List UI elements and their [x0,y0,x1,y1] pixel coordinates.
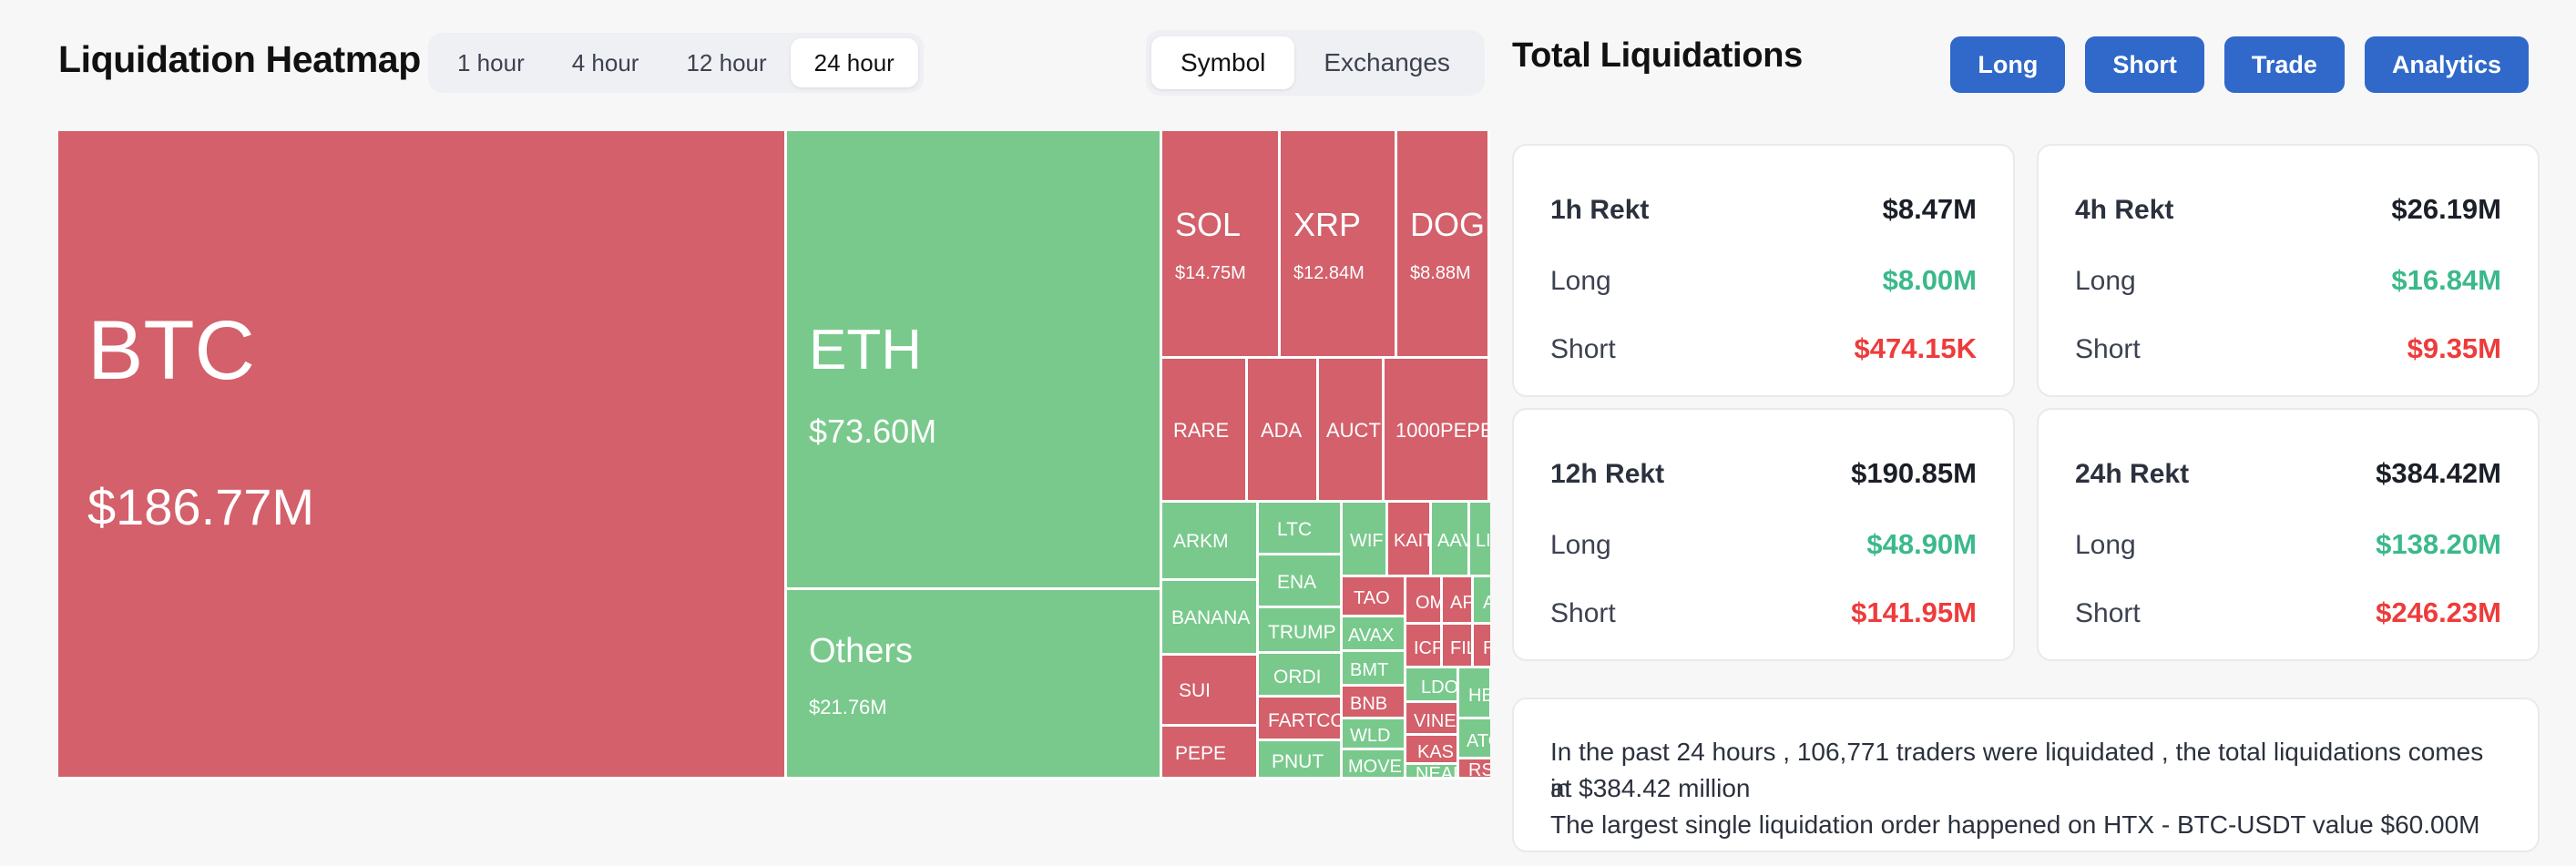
rekt-total-value: $190.85M [1851,457,1977,490]
action-button-short[interactable]: Short [2085,36,2204,93]
treemap-tile-symbol: BANANA [1171,608,1250,627]
long-label: Long [2075,266,2136,297]
treemap-tile[interactable]: BTC$186.77M [58,131,787,779]
rekt-period-label: 4h Rekt [2075,195,2173,226]
treemap-tile-symbol: ICP [1414,639,1443,657]
treemap-tile-symbol: AVAX [1348,627,1394,645]
treemap-tile[interactable]: WLD [1343,719,1406,750]
short-value: $246.23M [2376,596,2501,629]
treemap-tile-value: $8.88M [1410,264,1471,282]
treemap-tile[interactable]: AAVE [1432,503,1470,577]
long-value: $8.00M [1883,264,1977,297]
rekt-total-value: $384.42M [2376,457,2501,490]
treemap-tile[interactable]: Others$21.76M [787,590,1162,779]
short-label: Short [2075,598,2141,629]
total-liquidations-title: Total Liquidations [1512,36,1803,76]
action-buttons[interactable]: LongShortTradeAnalytics [1950,36,2529,93]
treemap-tile[interactable]: ETH$73.60M [787,131,1162,590]
timeframe-tab-1-hour[interactable]: 1 hour [434,38,548,87]
treemap-tile[interactable]: ADA [1248,359,1319,503]
liquidation-treemap[interactable]: BTC$186.77METH$73.60MOthers$21.76MSOL$14… [58,131,1490,779]
treemap-tile[interactable]: NEAR [1406,765,1459,779]
treemap-tile[interactable]: ATOM [1459,719,1490,759]
treemap-tile-value: $73.60M [809,415,936,448]
treemap-tile-symbol: SUI [1179,681,1211,700]
rekt-card-row: Long$8.00M [1550,264,1977,297]
action-button-analytics[interactable]: Analytics [2365,36,2529,93]
short-value: $9.35M [2407,332,2501,365]
action-button-long[interactable]: Long [1950,36,2065,93]
treemap-tile-value: $21.76M [809,698,887,718]
short-label: Short [1550,334,1616,365]
rekt-card-24h: 24h Rekt$384.42MLong$138.20MShort$246.23… [2037,408,2540,661]
treemap-tile[interactable]: RARE [1162,359,1248,503]
treemap-tile[interactable]: WIF [1343,503,1388,577]
treemap-tile-symbol: ARKM [1173,532,1229,551]
treemap-tile[interactable]: BNB [1343,687,1406,719]
treemap-tile-symbol: 1000PEPE [1395,421,1490,441]
treemap-tile[interactable]: FARTCOIN [1259,698,1343,741]
treemap-tile-value: $12.84M [1293,264,1365,282]
treemap-tile[interactable]: SUI [1162,656,1259,727]
treemap-tile-symbol: WLD [1350,727,1390,745]
treemap-tile[interactable]: BMT [1343,652,1406,687]
page-title: Liquidation Heatmap [58,38,421,81]
treemap-tile-symbol: NEAR [1416,765,1459,779]
treemap-tile[interactable]: FIL [1443,625,1474,668]
rekt-card-row: 1h Rekt$8.47M [1550,193,1977,226]
action-button-trade[interactable]: Trade [2224,36,2345,93]
treemap-tile-symbol: ETH [809,322,922,379]
treemap-tile-symbol: FARTCOIN [1268,711,1343,730]
timeframe-tab-4-hour[interactable]: 4 hour [548,38,663,87]
treemap-tile[interactable]: ARKM [1162,503,1259,581]
treemap-tile-symbol: HBAR [1468,687,1490,705]
treemap-tile-symbol: TAO [1354,589,1390,607]
rekt-card-4h: 4h Rekt$26.19MLong$16.84MShort$9.35M [2037,144,2540,397]
rekt-card-row: 24h Rekt$384.42M [2075,457,2501,490]
treemap-tile-symbol: ENA [1277,573,1316,592]
rekt-card-row: 4h Rekt$26.19M [2075,193,2501,226]
short-value: $141.95M [1851,596,1977,629]
treemap-tile-value: $186.77M [87,482,314,533]
timeframe-tab-24-hour[interactable]: 24 hour [791,38,918,87]
treemap-tile[interactable]: BANANA [1162,581,1259,656]
treemap-tile[interactable]: LDO [1406,668,1459,703]
treemap-tile-symbol: AUCTION [1326,421,1385,441]
long-label: Long [1550,530,1611,561]
summary-card: In the past 24 hours , 106,771 traders w… [1512,698,2540,852]
treemap-tile-symbol: Others [809,634,913,668]
treemap-tile[interactable]: LTC [1259,503,1343,555]
timeframe-tab-12-hour[interactable]: 12 hour [662,38,790,87]
treemap-tile-symbol: XRP [1293,209,1361,241]
treemap-tile-symbol: LINK [1476,532,1490,550]
long-label: Long [1550,266,1611,297]
treemap-tile[interactable]: PEPE [1162,727,1259,779]
treemap-tile-symbol: ADA [1483,594,1490,612]
treemap-tile-symbol: RARE [1173,421,1229,441]
treemap-tile[interactable]: RSR [1459,759,1490,779]
treemap-tile-symbol: ORDI [1273,667,1322,687]
treemap-tile[interactable]: TRUMP [1259,608,1343,654]
treemap-tile[interactable]: AVAX [1343,617,1406,652]
treemap-tile-symbol: APT [1450,594,1474,612]
treemap-tile-symbol: ATOM [1467,732,1490,750]
summary-line-3: The largest single liquidation order hap… [1550,807,2501,843]
treemap-tile-symbol: SOL [1175,209,1241,241]
rekt-period-label: 12h Rekt [1550,459,1664,490]
rekt-card-row: 12h Rekt$190.85M [1550,457,1977,490]
treemap-tile-symbol: OM [1416,594,1443,612]
treemap-tile[interactable]: XRP$12.84M [1281,131,1397,359]
rekt-card-12h: 12h Rekt$190.85MLong$48.90MShort$141.95M [1512,408,2015,661]
rekt-card-row: Short$474.15K [1550,332,1977,365]
rekt-card-row: Short$9.35M [2075,332,2501,365]
treemap-tile[interactable]: VINE [1406,703,1459,736]
treemap-tile[interactable]: ICP [1406,625,1443,668]
treemap-tile[interactable]: HBAR [1459,668,1490,719]
treemap-tile-symbol: BTC [87,309,255,392]
rekt-card-row: Long$138.20M [2075,528,2501,561]
long-value: $16.84M [2391,264,2501,297]
long-value: $48.90M [1866,528,1977,561]
treemap-tile-symbol: FIL [1450,639,1474,657]
rekt-card-1h: 1h Rekt$8.47MLong$8.00MShort$474.15K [1512,144,2015,397]
grouping-tab-symbol[interactable]: Symbol [1151,36,1294,89]
treemap-tile-symbol: TRUMP [1268,623,1336,642]
treemap-tile-symbol: BMT [1350,661,1388,679]
rekt-card-row: Long$48.90M [1550,528,1977,561]
treemap-tile-symbol: KAS [1417,743,1454,761]
treemap-tile[interactable]: OM [1406,577,1443,625]
liquidation-dashboard: Liquidation Heatmap 1 hour4 hour12 hour2… [0,0,2576,866]
treemap-tile-symbol: LDO [1421,678,1458,697]
treemap-tile-symbol: DOGE [1410,209,1490,241]
short-value: $474.15K [1855,332,1977,365]
treemap-tile[interactable]: ADA [1474,577,1490,625]
treemap-tile-symbol: PEPE [1175,744,1226,763]
treemap-tile-symbol: RSR [1468,761,1490,779]
rekt-period-label: 24h Rekt [2075,459,2189,490]
treemap-tile-symbol: KAITO [1394,532,1432,550]
treemap-tile-symbol: AAVE [1437,532,1470,550]
treemap-tile[interactable]: LINK [1470,503,1490,577]
treemap-tile[interactable]: PNUT [1259,741,1343,779]
treemap-tile[interactable]: RED [1474,625,1490,668]
treemap-tile-symbol: LTC [1277,520,1312,539]
page-header: Liquidation Heatmap 1 hour4 hour12 hour2… [0,0,2576,131]
treemap-tile-symbol: ADA [1261,421,1302,441]
treemap-tile[interactable]: TAO [1343,577,1406,617]
rekt-total-value: $26.19M [2391,193,2501,226]
treemap-tile[interactable]: ENA [1259,555,1343,608]
treemap-tile[interactable]: KAS [1406,736,1459,765]
treemap-tile-symbol: WIF [1350,532,1384,550]
treemap-tile[interactable]: 1000PEPE [1385,359,1490,503]
treemap-tile[interactable]: APT [1443,577,1474,625]
treemap-tile[interactable]: DOGE$8.88M [1397,131,1490,359]
treemap-tile[interactable]: MOVE [1343,750,1406,779]
treemap-tile-symbol: PNUT [1272,752,1324,771]
treemap-tile[interactable]: KAITO [1388,503,1432,577]
rekt-total-value: $8.47M [1883,193,1977,226]
long-label: Long [2075,530,2136,561]
treemap-tile[interactable]: AUCTION [1319,359,1385,503]
treemap-tile-symbol: BNB [1350,695,1387,713]
treemap-tile[interactable]: ORDI [1259,654,1343,698]
long-value: $138.20M [2376,528,2501,561]
short-label: Short [2075,334,2141,365]
timeframe-tabs[interactable]: 1 hour4 hour12 hour24 hour [428,33,924,93]
rekt-card-row: Short$246.23M [2075,596,2501,629]
treemap-tile-symbol: VINE [1414,712,1457,730]
treemap-tile-value: $14.75M [1175,264,1246,282]
rekt-period-label: 1h Rekt [1550,195,1649,226]
treemap-tile-symbol: MOVE [1348,758,1402,776]
rekt-card-row: Long$16.84M [2075,264,2501,297]
treemap-tile-symbol: RED [1483,639,1490,657]
short-label: Short [1550,598,1616,629]
summary-line-2: at $384.42 million [1550,770,2501,807]
treemap-tile[interactable]: SOL$14.75M [1162,131,1281,359]
grouping-tab-exchanges[interactable]: Exchanges [1294,36,1479,89]
rekt-card-row: Short$141.95M [1550,596,1977,629]
grouping-tabs[interactable]: SymbolExchanges [1146,30,1485,96]
